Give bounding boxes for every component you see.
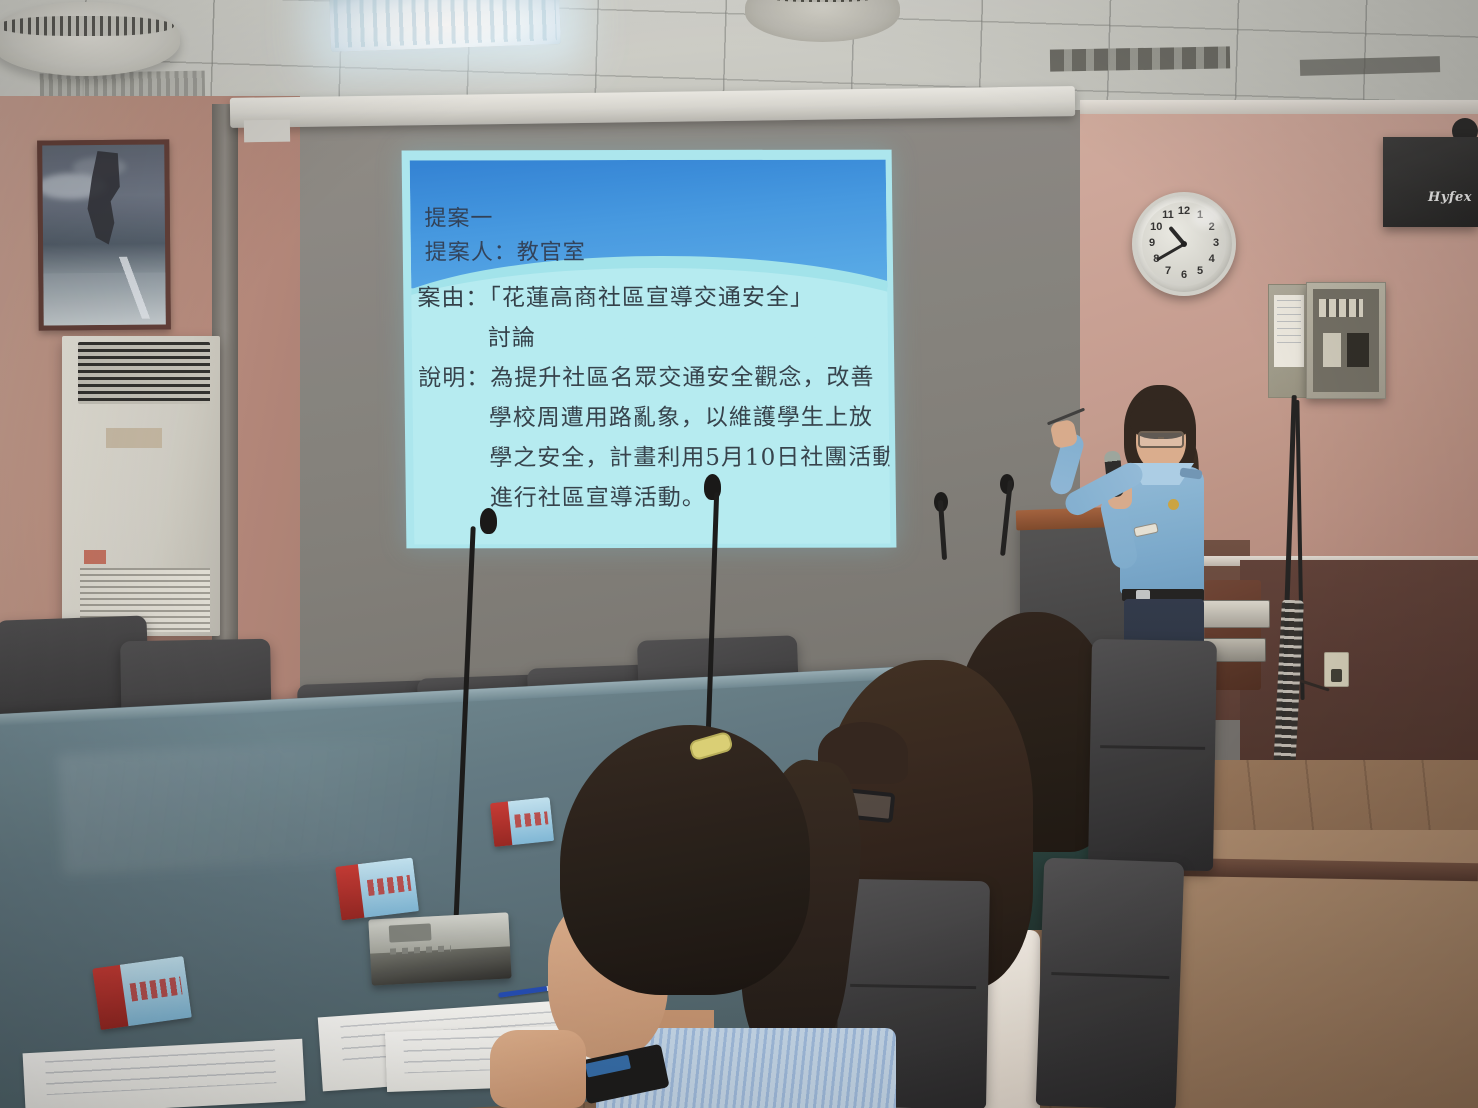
document-text-lines bbox=[45, 1049, 276, 1096]
slide-body-line-5: 學之安全，計畫利用5月10日社團活動 bbox=[489, 438, 890, 473]
slide-body-line-3: 說明：為提升社區名眾交通安全觀念，改善 bbox=[418, 358, 874, 393]
wall-trim-upper bbox=[1080, 100, 1478, 114]
clock-numeral-6: 6 bbox=[1177, 269, 1191, 281]
panel-breaker-block[interactable] bbox=[1347, 333, 1369, 367]
attendee-front-hair bbox=[560, 725, 810, 995]
framed-picture bbox=[37, 139, 171, 330]
clock-numeral-5: 5 bbox=[1193, 265, 1207, 277]
presenter-badge-icon bbox=[1168, 499, 1179, 510]
mic-base-display bbox=[388, 923, 431, 942]
clock-numeral-3: 3 bbox=[1209, 237, 1223, 249]
slide-header-line-2: 提案人：教官室 bbox=[425, 234, 586, 266]
wall-speaker: Hyfex bbox=[1383, 137, 1478, 227]
rail-shape bbox=[95, 256, 166, 319]
conference-room-photo: 提案一 提案人：教官室 案由：「花蓮高商社區宣導交通安全」 討論 說明：為提升社… bbox=[0, 0, 1478, 1108]
conference-chair[interactable] bbox=[1036, 858, 1185, 1108]
conference-chair[interactable] bbox=[1088, 639, 1217, 871]
wall-power-outlet[interactable] bbox=[1324, 652, 1349, 687]
ac-badge bbox=[84, 550, 106, 564]
wall-clock: 121234567891011 bbox=[1132, 192, 1236, 296]
slide-body-line-1: 案由：「花蓮高商社區宣導交通安全」 bbox=[417, 278, 814, 313]
clock-center-pin bbox=[1181, 241, 1187, 247]
speaker-brand-label: Hyfex bbox=[1428, 190, 1472, 205]
clock-numeral-9: 9 bbox=[1145, 237, 1159, 249]
slide-body-line-2: 討論 bbox=[488, 318, 536, 352]
clock-glass-glare bbox=[1192, 206, 1222, 228]
ceiling-fan-left bbox=[0, 2, 180, 76]
slide-header-line-1: 提案一 bbox=[424, 200, 493, 232]
slide-content-area: 提案一 提案人：教官室 案由：「花蓮高商社區宣導交通安全」 討論 說明：為提升社… bbox=[410, 160, 891, 545]
panel-label-sheet bbox=[1274, 295, 1304, 367]
air-conditioner-unit bbox=[62, 336, 220, 636]
table-name-card bbox=[92, 956, 192, 1030]
panel-breaker-row[interactable] bbox=[1319, 299, 1363, 317]
projected-slide: 提案一 提案人：教官室 案由：「花蓮高商社區宣導交通安全」 討論 說明：為提升社… bbox=[402, 150, 897, 549]
clock-numeral-4: 4 bbox=[1205, 253, 1219, 265]
clock-numeral-7: 7 bbox=[1161, 265, 1175, 277]
panel-interior bbox=[1313, 289, 1379, 392]
panel-breaker-main[interactable] bbox=[1323, 333, 1341, 367]
table-name-card bbox=[335, 857, 419, 920]
slide-text-block: 提案一 提案人：教官室 案由：「花蓮高商社區宣導交通安全」 討論 說明：為提升社… bbox=[410, 160, 891, 545]
clock-numeral-10: 10 bbox=[1149, 221, 1163, 233]
table-name-card bbox=[490, 797, 554, 847]
slide-body-line-4: 學校周遭用路亂象，以維護學生上放 bbox=[489, 398, 873, 433]
conference-mic-base-unit[interactable] bbox=[368, 912, 511, 985]
presenter-glasses bbox=[1138, 431, 1184, 448]
ceiling-vent-right bbox=[1050, 46, 1230, 71]
ac-upper-grille bbox=[78, 342, 210, 404]
clock-numeral-11: 11 bbox=[1161, 209, 1175, 221]
picture-image bbox=[42, 144, 166, 325]
ceiling-fluorescent-light bbox=[329, 0, 561, 52]
electrical-panel-box[interactable] bbox=[1306, 282, 1386, 399]
clock-numeral-12: 12 bbox=[1177, 205, 1191, 217]
gooseneck-mic-head-1[interactable] bbox=[480, 508, 497, 534]
screen-mount-bracket bbox=[244, 120, 290, 143]
slide-body-line-6: 進行社區宣導活動。 bbox=[490, 478, 706, 512]
ac-label bbox=[106, 428, 162, 448]
attendee-front-hand bbox=[490, 1030, 586, 1108]
